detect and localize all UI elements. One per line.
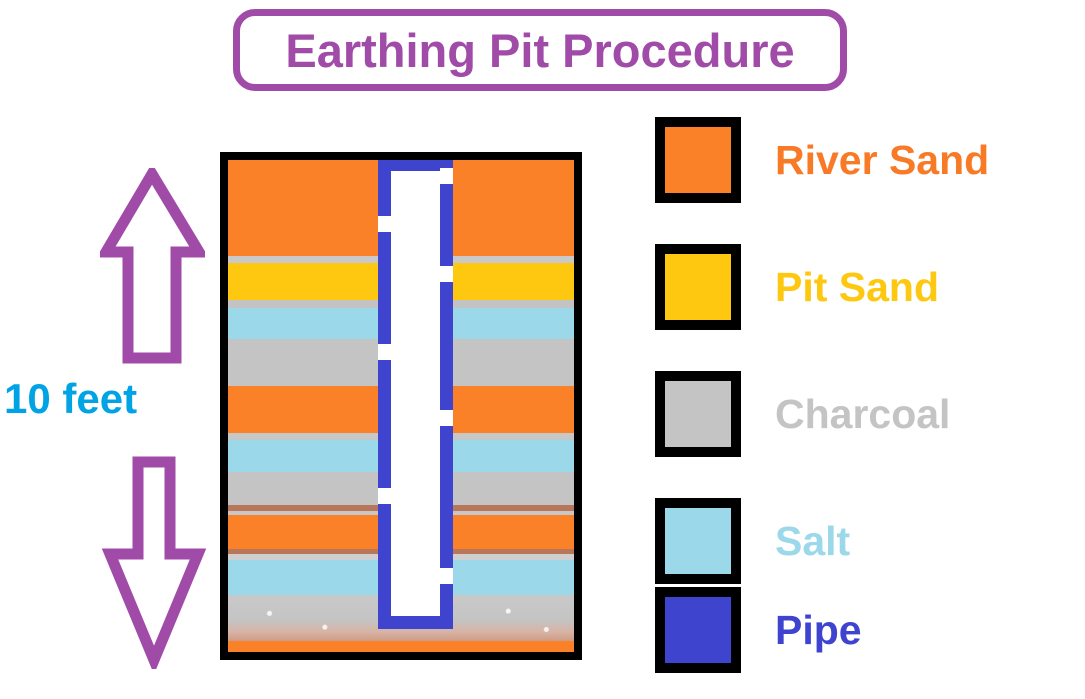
- legend-label-river-sand: River Sand: [775, 140, 989, 181]
- legend-label-pipe: Pipe: [775, 610, 862, 651]
- depth-measure-column: 10 feet: [0, 150, 215, 670]
- pit-layer-river-sand: [228, 386, 574, 433]
- legend-item-pit-sand[interactable]: Pit Sand: [655, 239, 939, 335]
- pit-layer-divider: [228, 300, 574, 308]
- pit-layers-container: [228, 160, 574, 652]
- pit-layer-pit-sand: [228, 263, 574, 300]
- legend-swatch-charcoal: [655, 371, 741, 457]
- page-title-box: Earthing Pit Procedure: [233, 9, 847, 91]
- pit-layer-salt: [228, 560, 574, 595]
- legend-item-river-sand[interactable]: River Sand: [655, 112, 989, 208]
- legend-item-salt[interactable]: Salt: [655, 493, 850, 589]
- legend-label-charcoal: Charcoal: [775, 394, 950, 435]
- materials-legend: River SandPit SandCharcoalSaltPipe: [655, 112, 1085, 682]
- pit-layer-salt: [228, 308, 574, 339]
- legend-swatch-pipe: [655, 587, 741, 673]
- legend-label-salt: Salt: [775, 521, 850, 562]
- pit-layer-charcoal: [228, 472, 574, 505]
- depth-label: 10 feet: [4, 378, 204, 420]
- legend-swatch-pit-sand: [655, 244, 741, 330]
- pit-layer-divider: [228, 433, 574, 440]
- legend-item-charcoal[interactable]: Charcoal: [655, 366, 950, 462]
- up-arrow-icon: [100, 168, 205, 368]
- down-arrow-icon: [98, 454, 208, 669]
- legend-item-pipe[interactable]: Pipe: [655, 582, 862, 678]
- pit-layer-divider: [228, 256, 574, 263]
- page-title: Earthing Pit Procedure: [285, 27, 794, 74]
- legend-swatch-salt: [655, 498, 741, 584]
- earthing-pit-cross-section: [220, 152, 582, 660]
- legend-label-pit-sand: Pit Sand: [775, 267, 939, 308]
- diagram-canvas: Earthing Pit Procedure 10 feet River San…: [0, 0, 1085, 699]
- pit-layer-river-sand: [228, 515, 574, 549]
- pit-layer-charcoal-textured: [228, 595, 574, 641]
- pit-layer-river-sand: [228, 160, 574, 256]
- pit-layer-charcoal: [228, 339, 574, 386]
- legend-swatch-river-sand: [655, 117, 741, 203]
- pit-layer-river-sand: [228, 641, 574, 652]
- pit-layer-salt: [228, 440, 574, 472]
